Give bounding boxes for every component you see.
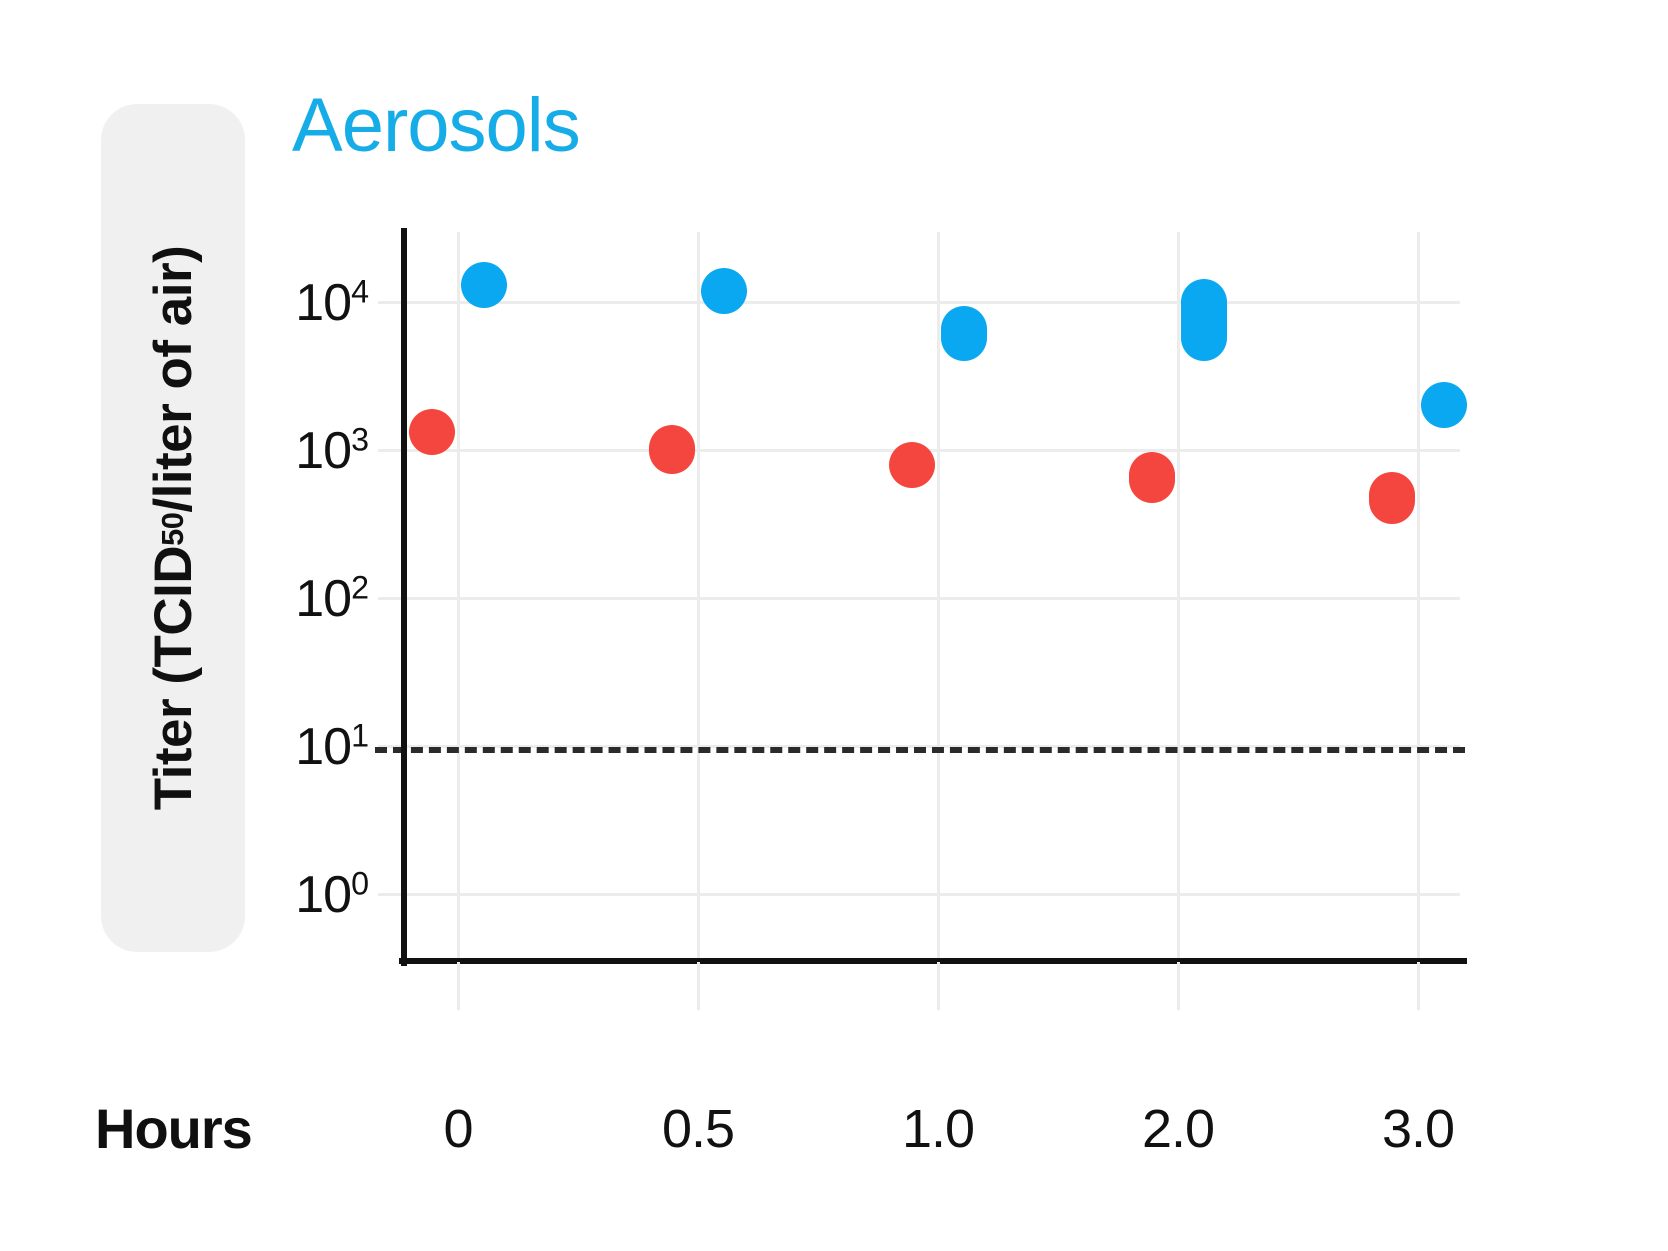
y-tick-mantissa: 10: [295, 718, 351, 776]
gridline-vertical-below-axis: [697, 962, 700, 1010]
x-tick-label: 0.5: [598, 1098, 798, 1160]
gridline-horizontal: [378, 301, 1460, 304]
x-axis-title: Hours: [95, 1096, 252, 1161]
plot-area: [403, 232, 1460, 962]
limit-of-detection-dashed-line: [375, 747, 1465, 753]
gridline-vertical-below-axis: [457, 962, 460, 1010]
y-tick-exponent: 0: [351, 865, 368, 901]
data-point-series_2-1.0: [889, 442, 935, 488]
data-point-series_2-0: [409, 409, 455, 455]
gridline-vertical-below-axis: [1417, 962, 1420, 1010]
y-axis-title-prefix: Titer (TCID: [143, 546, 204, 810]
y-tick-label: 102: [248, 569, 368, 629]
chart-title: Aerosols: [292, 88, 580, 164]
y-axis-title-subscript: 50: [155, 513, 191, 546]
y-tick-label: 104: [248, 273, 368, 333]
x-tick-label: 3.0: [1318, 1098, 1518, 1160]
x-tick-label: 2.0: [1078, 1098, 1278, 1160]
gridline-vertical: [1177, 232, 1180, 962]
gridline-vertical-below-axis: [1177, 962, 1180, 1010]
x-tick-label: 1.0: [838, 1098, 1038, 1160]
gridline-vertical-below-axis: [937, 962, 940, 1010]
y-tick-mantissa: 10: [295, 866, 351, 924]
gridlines-below-axis: [403, 962, 1460, 1010]
y-tick-exponent: 4: [351, 273, 368, 309]
gridline-vertical: [937, 232, 940, 962]
y-tick-mantissa: 10: [295, 570, 351, 628]
y-axis-title-panel: Titer (TCID50/liter of air): [101, 104, 245, 952]
y-tick-mantissa: 10: [295, 274, 351, 332]
data-point-series_1-0.5: [701, 268, 747, 314]
x-tick-label: 0: [358, 1098, 558, 1160]
y-axis-title: Titer (TCID50/liter of air): [101, 104, 245, 952]
gridline-vertical: [457, 232, 460, 962]
y-tick-label: 103: [248, 421, 368, 481]
y-tick-exponent: 3: [351, 421, 368, 457]
y-tick-mantissa: 10: [295, 422, 351, 480]
data-point-series_2-3.0: [1369, 472, 1415, 524]
data-point-series_2-2.0: [1129, 452, 1175, 503]
y-tick-label: 100: [248, 865, 368, 925]
gridline-vertical: [697, 232, 700, 962]
y-tick-label: 101: [248, 717, 368, 777]
y-tick-exponent: 1: [351, 717, 368, 753]
gridline-horizontal: [378, 597, 1460, 600]
data-point-series_1-1.0: [941, 306, 987, 362]
gridline-vertical: [1417, 232, 1420, 962]
y-axis-title-suffix: /liter of air): [143, 246, 204, 513]
y-axis-line: [401, 228, 407, 966]
data-point-series_2-0.5: [649, 425, 695, 475]
data-point-series_1-2.0: [1181, 279, 1227, 362]
data-point-series_1-3.0: [1421, 382, 1467, 428]
y-tick-exponent: 2: [351, 569, 368, 605]
gridline-horizontal: [378, 893, 1460, 896]
